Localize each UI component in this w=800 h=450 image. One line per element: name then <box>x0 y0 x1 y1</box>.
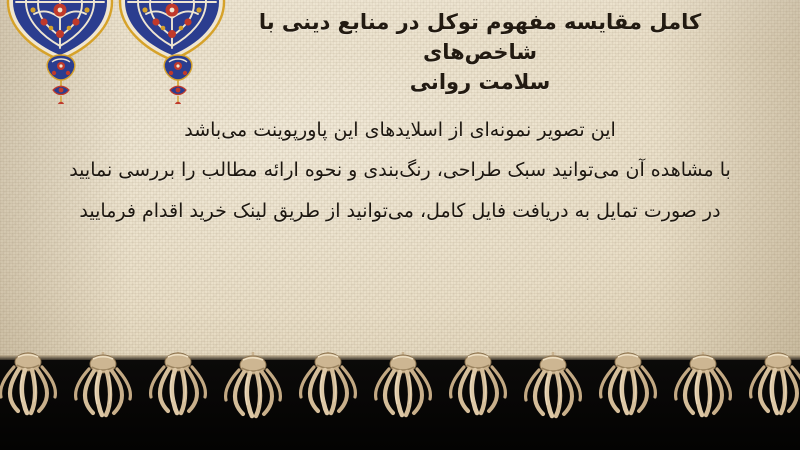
body-line-1: این تصویر نمونه‌ای از اسلایدهای این پاور… <box>26 110 774 150</box>
slide-title-line-2: سلامت روانی <box>200 68 760 98</box>
body-line-2: با مشاهده آن می‌توانید سبک طراحی، رنگ‌بن… <box>26 150 774 190</box>
bottom-black-band <box>0 360 800 450</box>
presentation-slide: کامل مقایسه مفهوم توکل در منابع دینی با … <box>0 0 800 450</box>
body-line-3: در صورت تمایل به دریافت فایل کامل، می‌تو… <box>26 191 774 231</box>
slide-title-line-1: کامل مقایسه مفهوم توکل در منابع دینی با … <box>200 8 760 68</box>
slide-title: کامل مقایسه مفهوم توکل در منابع دینی با … <box>0 8 800 97</box>
slide-body: این تصویر نمونه‌ای از اسلایدهای این پاور… <box>0 110 800 231</box>
